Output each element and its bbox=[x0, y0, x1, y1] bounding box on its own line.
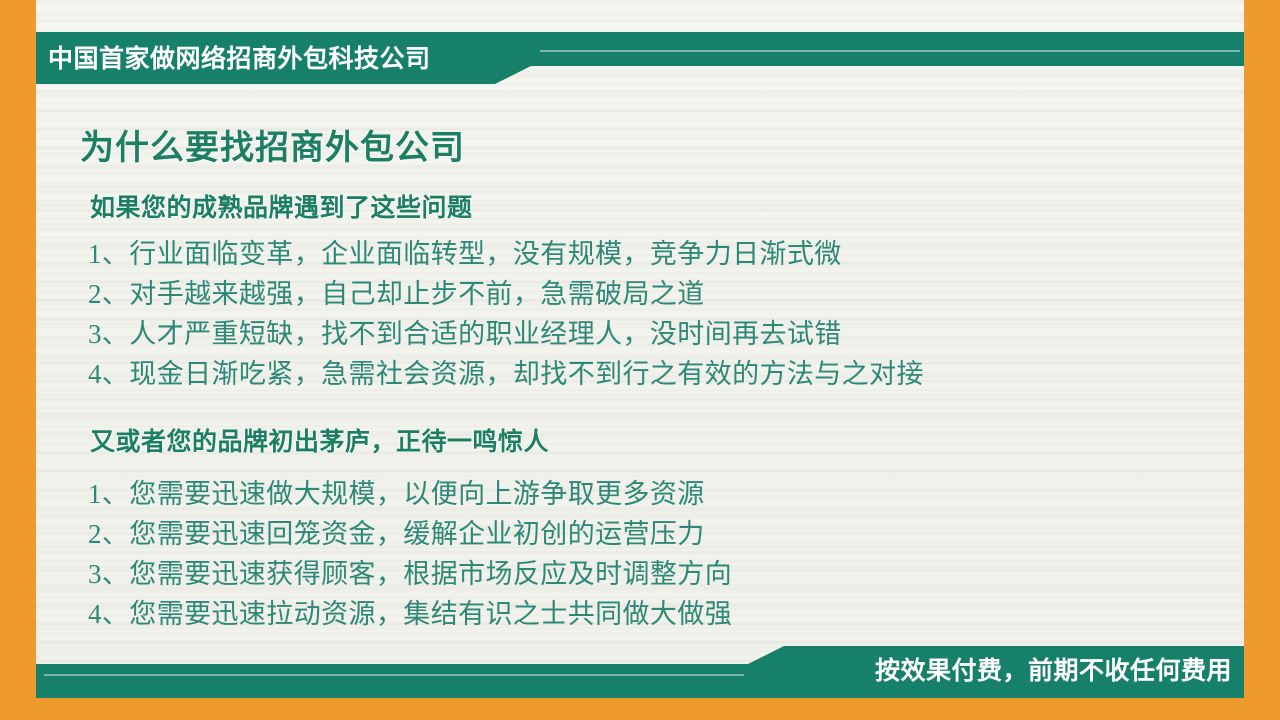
list-item: 1、您需要迅速做大规模，以便向上游争取更多资源 bbox=[88, 474, 1208, 514]
page-title: 为什么要找招商外包公司 bbox=[80, 120, 465, 169]
footer-hairline bbox=[44, 674, 744, 676]
list-item: 2、您需要迅速回笼资金，缓解企业初创的运营压力 bbox=[88, 514, 1208, 554]
footer-tagline: 按效果付费，前期不收任何费用 bbox=[875, 652, 1232, 690]
list-item: 4、现金日渐吃紧，急需社会资源，却找不到行之有效的方法与之对接 bbox=[88, 354, 1208, 394]
list-item: 4、您需要迅速拉动资源，集结有识之士共同做大做强 bbox=[88, 594, 1208, 634]
list-item: 2、对手越来越强，自己却止步不前，急需破局之道 bbox=[88, 274, 1208, 314]
need-list-new-brand: 1、您需要迅速做大规模，以便向上游争取更多资源 2、您需要迅速回笼资金，缓解企业… bbox=[88, 474, 1208, 634]
list-item: 3、您需要迅速获得顾客，根据市场反应及时调整方向 bbox=[88, 554, 1208, 594]
slide-root: 中国首家做网络招商外包科技公司 为什么要找招商外包公司 如果您的成熟品牌遇到了这… bbox=[0, 0, 1280, 720]
list-item: 3、人才严重短缺，找不到合适的职业经理人，没时间再去试错 bbox=[88, 314, 1208, 354]
section-heading-mature-brand: 如果您的成熟品牌遇到了这些问题 bbox=[90, 188, 473, 224]
header-hairline bbox=[540, 50, 1240, 52]
header-title: 中国首家做网络招商外包科技公司 bbox=[48, 40, 568, 78]
section-heading-new-brand: 又或者您的品牌初出茅庐，正待一鸣惊人 bbox=[90, 422, 549, 458]
list-item: 1、行业面临变革，企业面临转型，没有规模，竞争力日渐式微 bbox=[88, 234, 1208, 274]
problem-list-mature-brand: 1、行业面临变革，企业面临转型，没有规模，竞争力日渐式微 2、对手越来越强，自己… bbox=[88, 234, 1208, 394]
